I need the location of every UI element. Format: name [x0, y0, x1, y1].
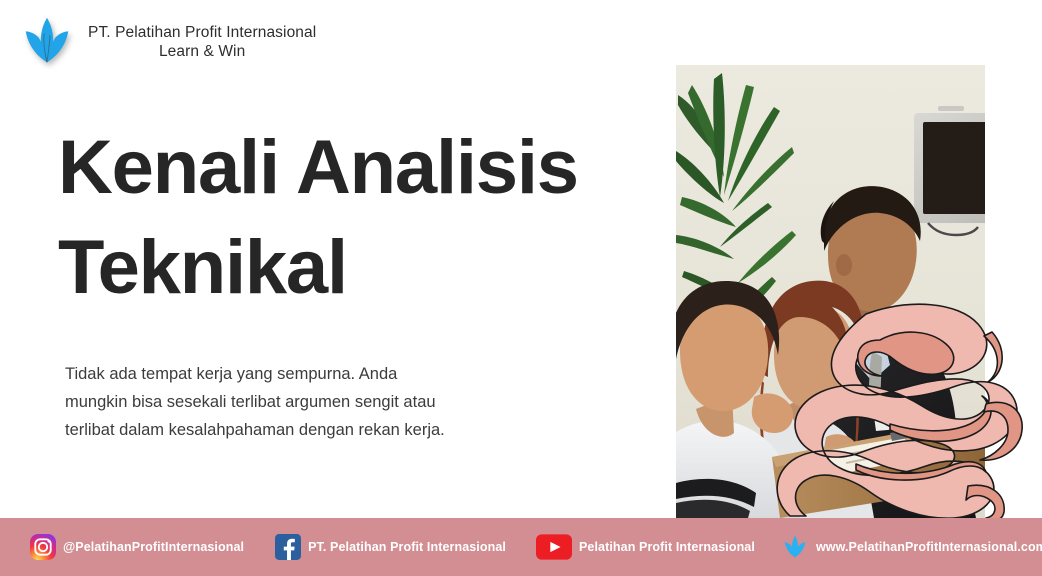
- slide-canvas: PT. Pelatihan Profit Internasional Learn…: [0, 0, 1042, 576]
- brand-name-block: PT. Pelatihan Profit Internasional Learn…: [88, 21, 316, 62]
- body-line-3: terlibat dalam kesalahpahaman dengan rek…: [65, 416, 535, 444]
- meeting-photo: [676, 65, 985, 518]
- instagram-handle: @PelatihanProfitInternasional: [63, 540, 244, 554]
- footer-item-youtube[interactable]: Pelatihan Profit Internasional: [536, 534, 755, 560]
- facebook-page-name: PT. Pelatihan Profit Internasional: [308, 540, 506, 554]
- brand-line-2: Learn & Win: [88, 42, 316, 61]
- footer-item-website[interactable]: www.PelatihanProfitInternasional.com: [781, 533, 1042, 561]
- footer-item-instagram[interactable]: @PelatihanProfitInternasional: [30, 534, 244, 560]
- brand-line-1: PT. Pelatihan Profit Internasional: [88, 23, 316, 42]
- body-line-1: Tidak ada tempat kerja yang sempurna. An…: [65, 360, 535, 388]
- body-line-2: mungkin bisa sesekali terlibat argumen s…: [65, 388, 535, 416]
- youtube-channel-name: Pelatihan Profit Internasional: [579, 540, 755, 554]
- instagram-icon[interactable]: [30, 534, 56, 560]
- lotus-flower-icon: [18, 12, 76, 70]
- youtube-icon[interactable]: [536, 534, 572, 560]
- website-url: www.PelatihanProfitInternasional.com: [816, 540, 1042, 554]
- social-footer-bar: @PelatihanProfitInternasional PT. Pelati…: [0, 518, 1042, 576]
- body-paragraph: Tidak ada tempat kerja yang sempurna. An…: [65, 360, 535, 444]
- page-title: Kenali Analisis Teknikal: [58, 118, 618, 319]
- brand-header: PT. Pelatihan Profit Internasional Learn…: [18, 12, 316, 70]
- title-line-2: Teknikal: [58, 218, 618, 318]
- title-line-1: Kenali Analisis: [58, 118, 618, 218]
- footer-item-facebook[interactable]: PT. Pelatihan Profit Internasional: [275, 534, 506, 560]
- facebook-icon[interactable]: [275, 534, 301, 560]
- lotus-flower-icon[interactable]: [781, 533, 809, 561]
